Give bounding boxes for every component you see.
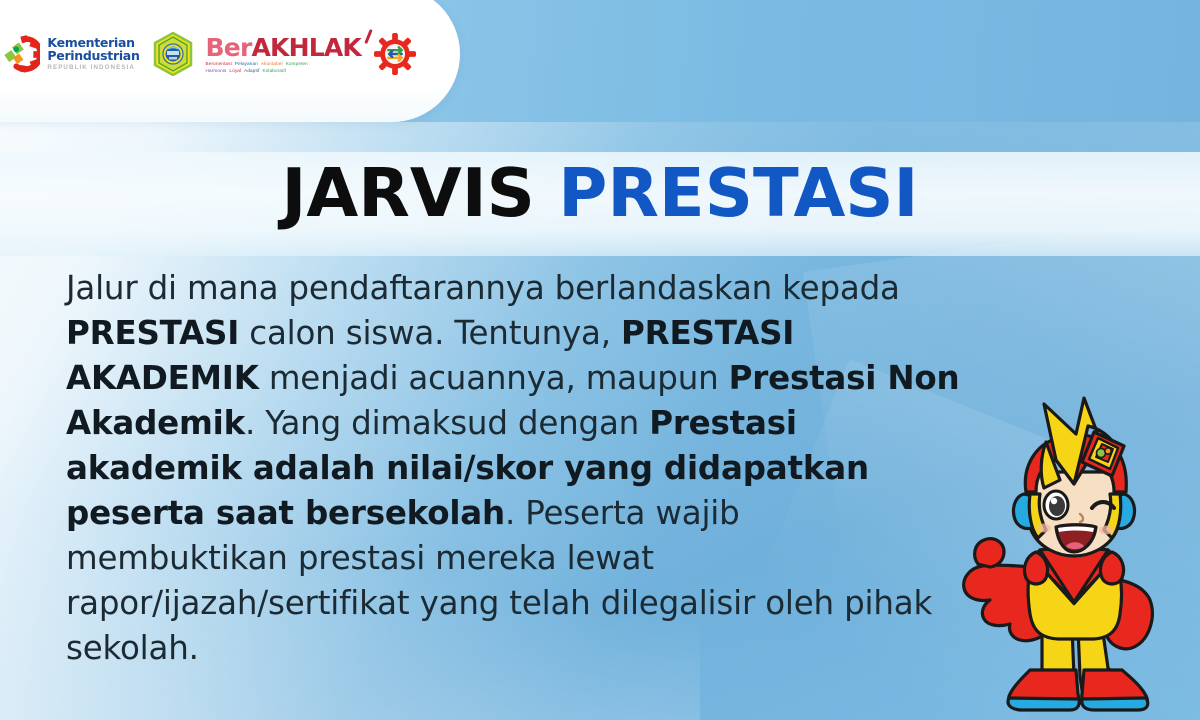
kemenperin-line2: Perindustrian xyxy=(47,50,139,63)
logo-row: Kementerian Perindustrian REPUBLIK INDON… xyxy=(2,32,416,76)
page-title: JARVIS PRESTASI xyxy=(0,160,1200,227)
body-text-bold: PRESTASI xyxy=(66,314,239,352)
berakhlak-main: AKHLAK xyxy=(252,33,362,62)
kemenperin-line3: REPUBLIK INDONESIA xyxy=(47,65,139,71)
body-text-normal: Jalur di mana pendaftarannya berlandaska… xyxy=(66,269,900,307)
logo-panel: Kementerian Perindustrian REPUBLIK INDON… xyxy=(0,0,460,122)
kemenperin-wordmark: Kementerian Perindustrian REPUBLIK INDON… xyxy=(47,37,139,71)
berakhlak-subtitle-1: BerorientasiPelayananAkuntabelKompeten xyxy=(206,62,361,67)
berakhlak-tick-icon xyxy=(364,29,372,44)
poster-canvas: Kementerian Perindustrian REPUBLIK INDON… xyxy=(0,0,1200,720)
gear-arrows-emblem-icon xyxy=(374,33,416,75)
berakhlak-subtitle-2: HarmonisLoyalAdaptifKolaboratif xyxy=(206,69,361,74)
superhero-mascot xyxy=(948,388,1200,720)
body-text-normal: calon siswa. Tentunya, xyxy=(239,314,621,352)
logo-kementerian-perindustrian: Kementerian Perindustrian REPUBLIK INDON… xyxy=(2,35,139,73)
hexagon-emblem-icon xyxy=(153,32,193,76)
title-part-prestasi: PRESTASI xyxy=(558,154,918,232)
body-text-normal: . Yang dimaksud dengan xyxy=(245,404,649,442)
body-paragraph: Jalur di mana pendaftarannya berlandaska… xyxy=(66,266,966,671)
logo-berakhlak: BerAKHLAK BerorientasiPelayananAkuntabel… xyxy=(206,35,361,73)
kemenperin-gear-icon xyxy=(2,35,40,73)
body-text-normal: menjadi acuannya, maupun xyxy=(259,359,729,397)
header-band: Kementerian Perindustrian REPUBLIK INDON… xyxy=(0,0,1200,122)
berakhlak-wordmark: BerAKHLAK xyxy=(206,35,361,60)
title-part-jarvis: JARVIS xyxy=(281,154,534,232)
berakhlak-prefix: Ber xyxy=(206,33,252,62)
